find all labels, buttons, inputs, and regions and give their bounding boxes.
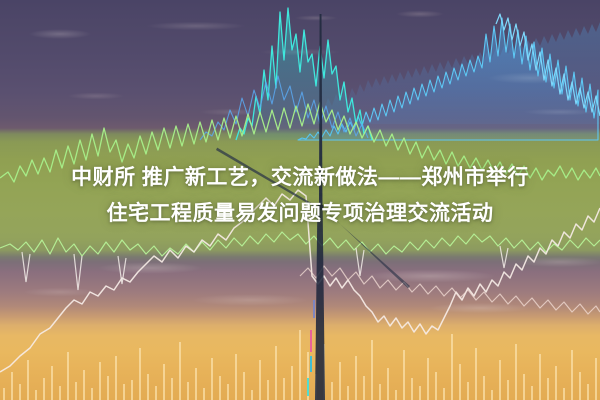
- headline-line-2: 住宅工程质量易发问题专项治理交流活动: [0, 196, 600, 232]
- promo-banner: 中财所 推广新工艺，交流新做法——郑州市举行 住宅工程质量易发问题专项治理交流活…: [0, 0, 600, 400]
- headline-line-1: 中财所 推广新工艺，交流新做法——郑州市举行: [0, 160, 600, 196]
- turbine-mast: [315, 205, 325, 400]
- headline-text: 中财所 推广新工艺，交流新做法——郑州市举行 住宅工程质量易发问题专项治理交流活…: [0, 160, 600, 232]
